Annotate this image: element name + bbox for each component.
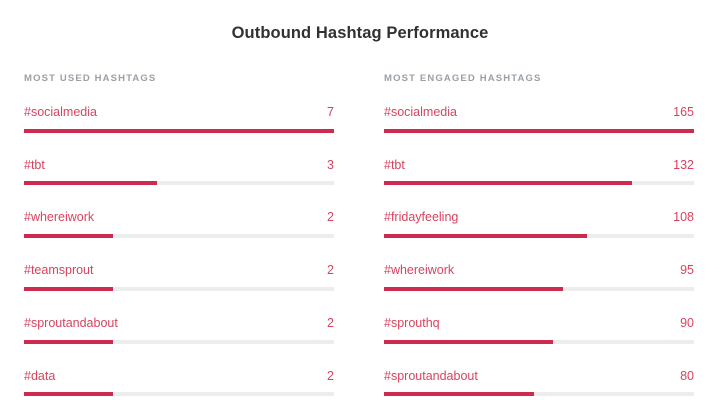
hashtag-label: #sprouthq (384, 317, 440, 331)
bar-row-label-line: #sproutandabout 2 (24, 317, 334, 331)
list-item[interactable]: #whereiwork 2 (24, 211, 334, 238)
hashtag-value: 2 (317, 264, 334, 278)
hashtag-value: 2 (317, 211, 334, 225)
hashtag-value: 2 (317, 370, 334, 384)
hashtag-value: 95 (670, 264, 694, 278)
bar-row-label-line: #sproutandabout 80 (384, 370, 694, 384)
hashtag-label: #socialmedia (24, 106, 97, 120)
hashtag-label: #fridayfeeling (384, 211, 458, 225)
bar-fill (24, 129, 334, 133)
bar-track (384, 287, 694, 291)
bar-row-label-line: #whereiwork 2 (24, 211, 334, 225)
bar-track (24, 287, 334, 291)
bar-fill (24, 340, 113, 344)
list-item[interactable]: #sproutandabout 2 (24, 317, 334, 344)
bar-track (24, 129, 334, 133)
bar-row-label-line: #fridayfeeling 108 (384, 211, 694, 225)
bar-row-label-line: #tbt 3 (24, 159, 334, 173)
hashtag-value: 2 (317, 317, 334, 331)
hashtag-value: 132 (663, 159, 694, 173)
most-used-hashtags-header: MOST USED HASHTAGS (24, 73, 334, 84)
hashtag-label: #sproutandabout (384, 370, 478, 384)
hashtag-label: #tbt (384, 159, 405, 173)
bar-fill (384, 129, 694, 133)
bar-row-label-line: #socialmedia 165 (384, 106, 694, 120)
bar-track (384, 129, 694, 133)
most-used-hashtags-column: MOST USED HASHTAGS #socialmedia 7 #tbt 3 (0, 73, 360, 397)
list-item[interactable]: #data 2 (24, 370, 334, 397)
list-item[interactable]: #tbt 3 (24, 159, 334, 186)
bar-track (384, 234, 694, 238)
hashtag-label: #data (24, 370, 55, 384)
bar-fill (384, 392, 534, 396)
list-item[interactable]: #sprouthq 90 (384, 317, 694, 344)
bar-fill (24, 234, 113, 238)
list-item[interactable]: #tbt 132 (384, 159, 694, 186)
bar-row-label-line: #whereiwork 95 (384, 264, 694, 278)
bar-track (384, 340, 694, 344)
bar-row-label-line: #teamsprout 2 (24, 264, 334, 278)
bar-fill (384, 287, 563, 291)
bar-fill (384, 181, 632, 185)
bar-fill (384, 234, 587, 238)
bar-row-label-line: #sprouthq 90 (384, 317, 694, 331)
bar-track (24, 181, 334, 185)
bar-fill (24, 392, 113, 396)
hashtag-label: #socialmedia (384, 106, 457, 120)
hashtag-value: 80 (670, 370, 694, 384)
hashtag-label: #whereiwork (24, 211, 94, 225)
bar-track (384, 392, 694, 396)
list-item[interactable]: #socialmedia 7 (24, 106, 334, 133)
most-engaged-hashtags-header: MOST ENGAGED HASHTAGS (384, 73, 694, 84)
bar-track (24, 234, 334, 238)
hashtag-value: 3 (317, 159, 334, 173)
page-title: Outbound Hashtag Performance (0, 0, 720, 44)
bar-fill (384, 340, 553, 344)
list-item[interactable]: #teamsprout 2 (24, 264, 334, 291)
bar-row-label-line: #socialmedia 7 (24, 106, 334, 120)
list-item[interactable]: #fridayfeeling 108 (384, 211, 694, 238)
bar-track (24, 340, 334, 344)
hashtag-performance-report: Outbound Hashtag Performance MOST USED H… (0, 0, 720, 400)
hashtag-value: 90 (670, 317, 694, 331)
hashtag-label: #teamsprout (24, 264, 93, 278)
list-item[interactable]: #sproutandabout 80 (384, 370, 694, 397)
bar-row-label-line: #tbt 132 (384, 159, 694, 173)
bar-track (24, 392, 334, 396)
hashtag-value: 165 (663, 106, 694, 120)
list-item[interactable]: #socialmedia 165 (384, 106, 694, 133)
columns-container: MOST USED HASHTAGS #socialmedia 7 #tbt 3 (0, 73, 720, 397)
hashtag-value: 108 (663, 211, 694, 225)
bar-row-label-line: #data 2 (24, 370, 334, 384)
bar-fill (24, 181, 157, 185)
bar-fill (24, 287, 113, 291)
most-engaged-hashtags-column: MOST ENGAGED HASHTAGS #socialmedia 165 #… (360, 73, 720, 397)
hashtag-label: #tbt (24, 159, 45, 173)
bar-track (384, 181, 694, 185)
hashtag-label: #sproutandabout (24, 317, 118, 331)
hashtag-label: #whereiwork (384, 264, 454, 278)
list-item[interactable]: #whereiwork 95 (384, 264, 694, 291)
hashtag-value: 7 (317, 106, 334, 120)
